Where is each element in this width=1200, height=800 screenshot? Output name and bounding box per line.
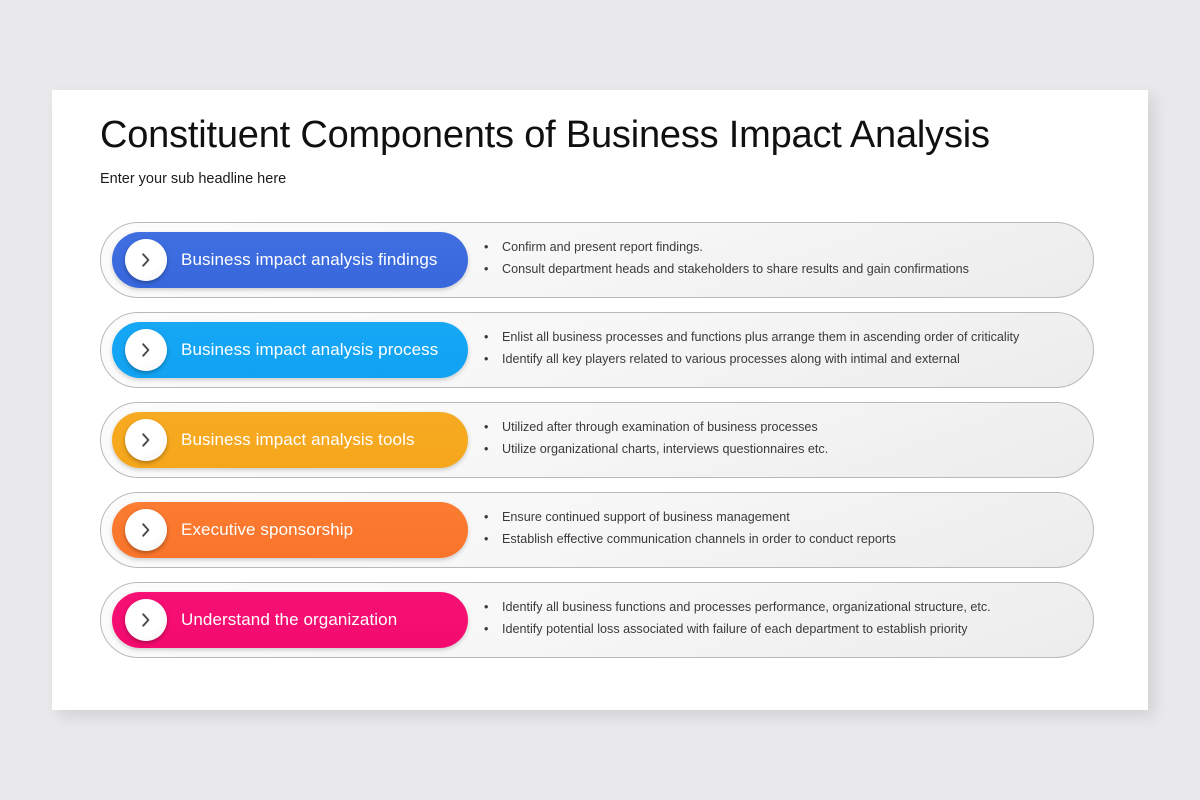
component-label-pill[interactable]: Business impact analysis tools [112, 412, 468, 468]
bullet-marker-icon: • [484, 348, 502, 370]
bullet-marker-icon: • [484, 236, 502, 258]
bullet-text: Identify all key players related to vari… [502, 348, 1072, 370]
bullet-list: •Utilized after through examination of b… [484, 416, 1072, 460]
bullet-item: •Consult department heads and stakeholde… [484, 258, 1072, 280]
chevron-right-icon [125, 329, 167, 371]
component-label-text: Business impact analysis process [181, 340, 438, 360]
bullet-text: Confirm and present report findings. [502, 236, 1072, 258]
slide-card: Constituent Components of Business Impac… [52, 90, 1148, 710]
component-label-text: Executive sponsorship [181, 520, 353, 540]
component-label-pill[interactable]: Executive sponsorship [112, 502, 468, 558]
component-row: Executive sponsorship•Ensure continued s… [100, 492, 1094, 568]
bullet-marker-icon: • [484, 416, 502, 438]
chevron-right-icon [125, 509, 167, 551]
bullet-marker-icon: • [484, 506, 502, 528]
bullet-marker-icon: • [484, 326, 502, 348]
bullet-marker-icon: • [484, 528, 502, 550]
bullet-list: •Confirm and present report findings.•Co… [484, 236, 1072, 280]
bullet-list: •Identify all business functions and pro… [484, 596, 1072, 640]
component-list: Business impact analysis findings•Confir… [100, 222, 1094, 672]
page-title: Constituent Components of Business Impac… [100, 114, 990, 157]
chevron-right-icon [125, 239, 167, 281]
component-row: Business impact analysis tools•Utilized … [100, 402, 1094, 478]
component-label-text: Business impact analysis findings [181, 250, 438, 270]
page-subtitle: Enter your sub headline here [100, 171, 286, 187]
component-label-pill[interactable]: Business impact analysis process [112, 322, 468, 378]
bullet-item: •Identify all business functions and pro… [484, 596, 1072, 618]
component-row: Understand the organization•Identify all… [100, 582, 1094, 658]
bullet-marker-icon: • [484, 438, 502, 460]
bullet-text: Establish effective communication channe… [502, 528, 1072, 550]
bullet-text: Utilize organizational charts, interview… [502, 438, 1072, 460]
component-label-text: Understand the organization [181, 610, 397, 630]
bullet-item: •Enlist all business processes and funct… [484, 326, 1072, 348]
component-row: Business impact analysis findings•Confir… [100, 222, 1094, 298]
bullet-list: •Ensure continued support of business ma… [484, 506, 1072, 550]
bullet-marker-icon: • [484, 618, 502, 640]
bullet-marker-icon: • [484, 596, 502, 618]
bullet-text: Ensure continued support of business man… [502, 506, 1072, 528]
bullet-text: Utilized after through examination of bu… [502, 416, 1072, 438]
chevron-right-icon [125, 419, 167, 461]
bullet-text: Identify all business functions and proc… [502, 596, 1072, 618]
bullet-item: •Utilize organizational charts, intervie… [484, 438, 1072, 460]
bullet-item: •Identify potential loss associated with… [484, 618, 1072, 640]
component-row: Business impact analysis process•Enlist … [100, 312, 1094, 388]
bullet-list: •Enlist all business processes and funct… [484, 326, 1072, 370]
component-label-pill[interactable]: Business impact analysis findings [112, 232, 468, 288]
component-label-pill[interactable]: Understand the organization [112, 592, 468, 648]
bullet-item: •Utilized after through examination of b… [484, 416, 1072, 438]
bullet-item: •Identify all key players related to var… [484, 348, 1072, 370]
bullet-item: •Ensure continued support of business ma… [484, 506, 1072, 528]
component-label-text: Business impact analysis tools [181, 430, 415, 450]
bullet-item: •Confirm and present report findings. [484, 236, 1072, 258]
bullet-item: •Establish effective communication chann… [484, 528, 1072, 550]
bullet-marker-icon: • [484, 258, 502, 280]
bullet-text: Identify potential loss associated with … [502, 618, 1072, 640]
chevron-right-icon [125, 599, 167, 641]
bullet-text: Enlist all business processes and functi… [502, 326, 1072, 348]
bullet-text: Consult department heads and stakeholder… [502, 258, 1072, 280]
